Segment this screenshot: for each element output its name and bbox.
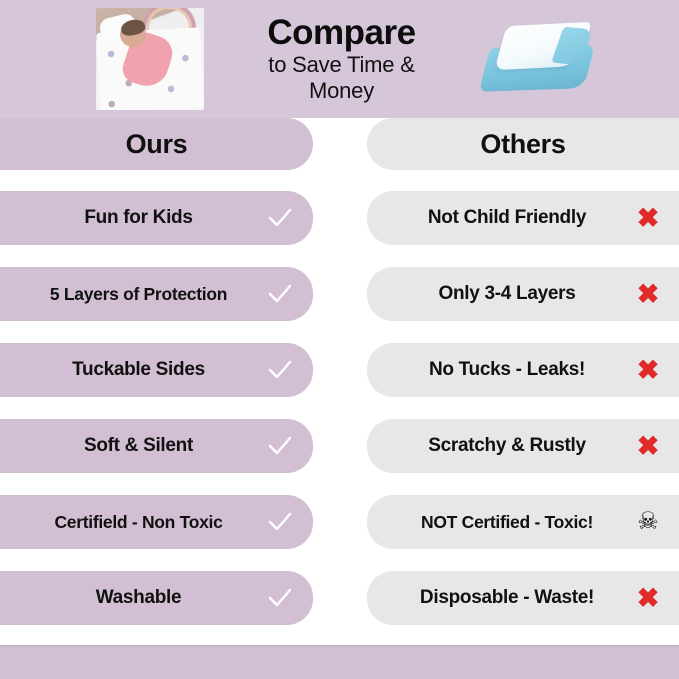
ours-feature-cell: Tuckable Sides <box>0 343 313 397</box>
comparison-row: 5 Layers of Protection Only 3-4 Layers ✖ <box>0 267 679 321</box>
ours-column-label: Ours <box>126 129 188 160</box>
ours-feature-label: Fun for Kids <box>14 207 263 229</box>
column-gap <box>313 267 367 321</box>
folded-pad-product-photo <box>479 16 595 102</box>
skull-and-crossbones-icon: ☠ <box>631 510 665 534</box>
checkmark-icon <box>263 510 297 534</box>
ours-feature-cell: Washable <box>0 571 313 625</box>
checkmark-icon <box>263 206 297 230</box>
page-subtitle-line-1: to Save Time & <box>210 52 473 78</box>
page-title: Compare <box>210 15 473 50</box>
footer-band <box>0 645 679 679</box>
comparison-table: Ours Others Fun for Kids Not Child Frien… <box>0 118 679 625</box>
header-title-block: Compare to Save Time & Money <box>210 15 473 104</box>
ours-feature-cell: Fun for Kids <box>0 191 313 245</box>
cross-icon: ✖ <box>631 281 665 308</box>
ours-column-header: Ours <box>0 118 313 170</box>
others-feature-label: No Tucks - Leaks! <box>383 359 631 381</box>
ours-feature-label: Soft & Silent <box>14 435 263 457</box>
others-feature-label: Disposable - Waste! <box>383 587 631 609</box>
column-gap <box>313 571 367 625</box>
column-gap <box>313 191 367 245</box>
others-feature-cell: Disposable - Waste! ✖ <box>367 571 679 625</box>
ours-feature-label: Tuckable Sides <box>14 359 263 381</box>
others-feature-label: Scratchy & Rustly <box>383 435 631 457</box>
ours-feature-label: Washable <box>14 587 263 609</box>
ours-feature-cell: Soft & Silent <box>0 419 313 473</box>
cross-icon: ✖ <box>631 357 665 384</box>
ours-feature-label: Certifield - Non Toxic <box>14 512 263 533</box>
comparison-row: Certifield - Non Toxic NOT Certified - T… <box>0 495 679 549</box>
others-feature-cell: Scratchy & Rustly ✖ <box>367 419 679 473</box>
others-feature-cell: Not Child Friendly ✖ <box>367 191 679 245</box>
column-gap <box>313 118 367 170</box>
others-feature-cell: Only 3-4 Layers ✖ <box>367 267 679 321</box>
header-banner: Compare to Save Time & Money <box>0 0 679 118</box>
ours-feature-label: 5 Layers of Protection <box>14 284 263 305</box>
others-feature-label: Not Child Friendly <box>383 207 631 229</box>
checkmark-icon <box>263 282 297 306</box>
others-column-header: Others <box>367 118 679 170</box>
checkmark-icon <box>263 358 297 382</box>
ours-feature-cell: 5 Layers of Protection <box>0 267 313 321</box>
cross-icon: ✖ <box>631 585 665 612</box>
cross-icon: ✖ <box>631 433 665 460</box>
cross-icon: ✖ <box>631 205 665 232</box>
others-feature-cell: No Tucks - Leaks! ✖ <box>367 343 679 397</box>
others-column-label: Others <box>480 129 565 160</box>
others-feature-label: NOT Certified - Toxic! <box>383 512 631 533</box>
column-gap <box>313 419 367 473</box>
comparison-row: Fun for Kids Not Child Friendly ✖ <box>0 191 679 245</box>
column-gap <box>313 343 367 397</box>
others-feature-cell: NOT Certified - Toxic! ☠ <box>367 495 679 549</box>
checkmark-icon <box>263 586 297 610</box>
others-feature-label: Only 3-4 Layers <box>383 283 631 305</box>
column-header-row: Ours Others <box>0 118 679 170</box>
page-subtitle-line-2: Money <box>210 78 473 104</box>
baby-crib-sheet-photo <box>96 8 204 110</box>
comparison-row: Washable Disposable - Waste! ✖ <box>0 571 679 625</box>
column-gap <box>313 495 367 549</box>
comparison-row: Soft & Silent Scratchy & Rustly ✖ <box>0 419 679 473</box>
checkmark-icon <box>263 434 297 458</box>
ours-feature-cell: Certifield - Non Toxic <box>0 495 313 549</box>
comparison-row: Tuckable Sides No Tucks - Leaks! ✖ <box>0 343 679 397</box>
